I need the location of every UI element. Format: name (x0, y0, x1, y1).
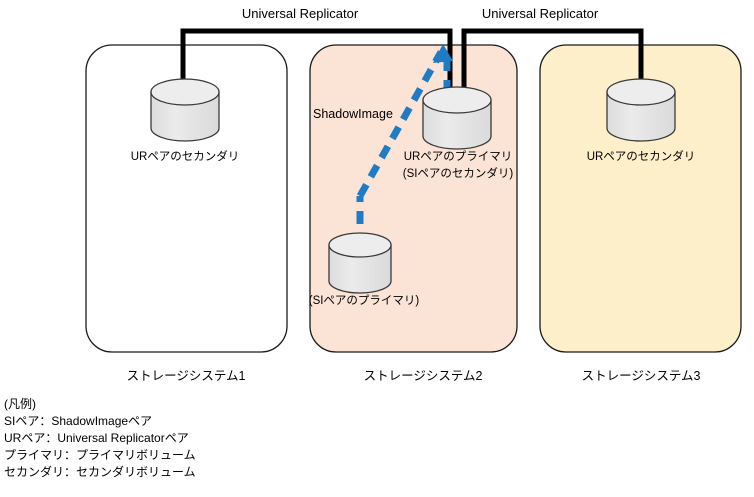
legend-title: (凡例) (4, 396, 196, 413)
vol-si-primary-label: (SIペアのプライマリ) (309, 294, 420, 308)
vol-ur-primary-label-line2: (SIペアのセカンダリ) (403, 167, 514, 181)
legend-line-primary: プライマリ：プライマリボリューム (4, 447, 196, 464)
legend: (凡例) SIペア：ShadowImageペア URペア：Universal R… (4, 396, 196, 481)
vol-ur-secondary-2-cylinder (607, 79, 675, 141)
vol-ur-primary-label-line1: URペアのプライマリ (404, 150, 513, 164)
ur-link-left-label: Universal Replicator (242, 6, 358, 22)
vol-si-primary-cylinder (329, 233, 391, 293)
shadowimage-link-label: ShadowImage (313, 107, 393, 123)
ur-link-right-label: Universal Replicator (482, 6, 598, 22)
legend-line-si-pair: SIペア：ShadowImageペア (4, 413, 196, 430)
storage-system-3-label: ストレージシステム3 (582, 369, 701, 385)
vol-ur-secondary-1-cylinder (151, 79, 219, 141)
vol-ur-primary-cylinder (423, 87, 491, 149)
legend-line-ur-pair: URペア：Universal Replicatorペア (4, 430, 196, 447)
storage-system-2-label: ストレージシステム2 (364, 369, 483, 385)
legend-line-secondary: セカンダリ：セカンダリボリューム (4, 464, 196, 481)
vol-ur-secondary-1-label: URペアのセカンダリ (131, 150, 240, 164)
storage-system-1-label: ストレージシステム1 (127, 369, 246, 385)
vol-ur-secondary-2-label: URペアのセカンダリ (587, 150, 696, 164)
